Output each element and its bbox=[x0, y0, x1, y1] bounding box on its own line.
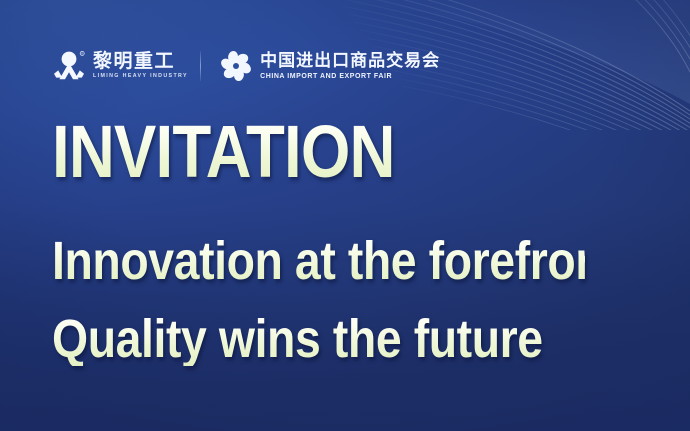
canton-fair-wordmark: 中国进出口商品交易会 CHINA IMPORT AND EXPORT FAIR bbox=[260, 53, 440, 80]
canton-fair-name-cn: 中国进出口商品交易会 bbox=[260, 53, 440, 70]
liming-name-en: LIMING HEAVY INDUSTRY bbox=[93, 74, 188, 79]
liming-logo: R 黎明重工 LIMING HEAVY INDUSTRY bbox=[52, 50, 186, 82]
canton-fair-name-en: CHINA IMPORT AND EXPORT FAIR bbox=[260, 73, 440, 80]
headline-slogan-line-2: Quality wins the future bbox=[52, 313, 585, 366]
kapok-flower-pinwheel-icon bbox=[217, 49, 255, 83]
liming-name-cn: 黎明重工 bbox=[93, 52, 186, 71]
liming-wordmark: 黎明重工 LIMING HEAVY INDUSTRY bbox=[93, 52, 186, 79]
liming-triangle-circle-icon: R bbox=[52, 50, 86, 82]
logo-divider bbox=[200, 51, 201, 81]
headline-block: INVITATION Innovation at the forefront Q… bbox=[52, 116, 672, 366]
invitation-poster: R 黎明重工 LIMING HEAVY INDUSTRY bbox=[0, 0, 690, 431]
page-title: INVITATION bbox=[52, 116, 585, 189]
logo-bar: R 黎明重工 LIMING HEAVY INDUSTRY bbox=[52, 45, 440, 87]
headline-slogan-line-1: Innovation at the forefront bbox=[52, 235, 585, 288]
canton-fair-logo: 中国进出口商品交易会 CHINA IMPORT AND EXPORT FAIR bbox=[217, 49, 440, 83]
svg-text:R: R bbox=[81, 52, 83, 56]
